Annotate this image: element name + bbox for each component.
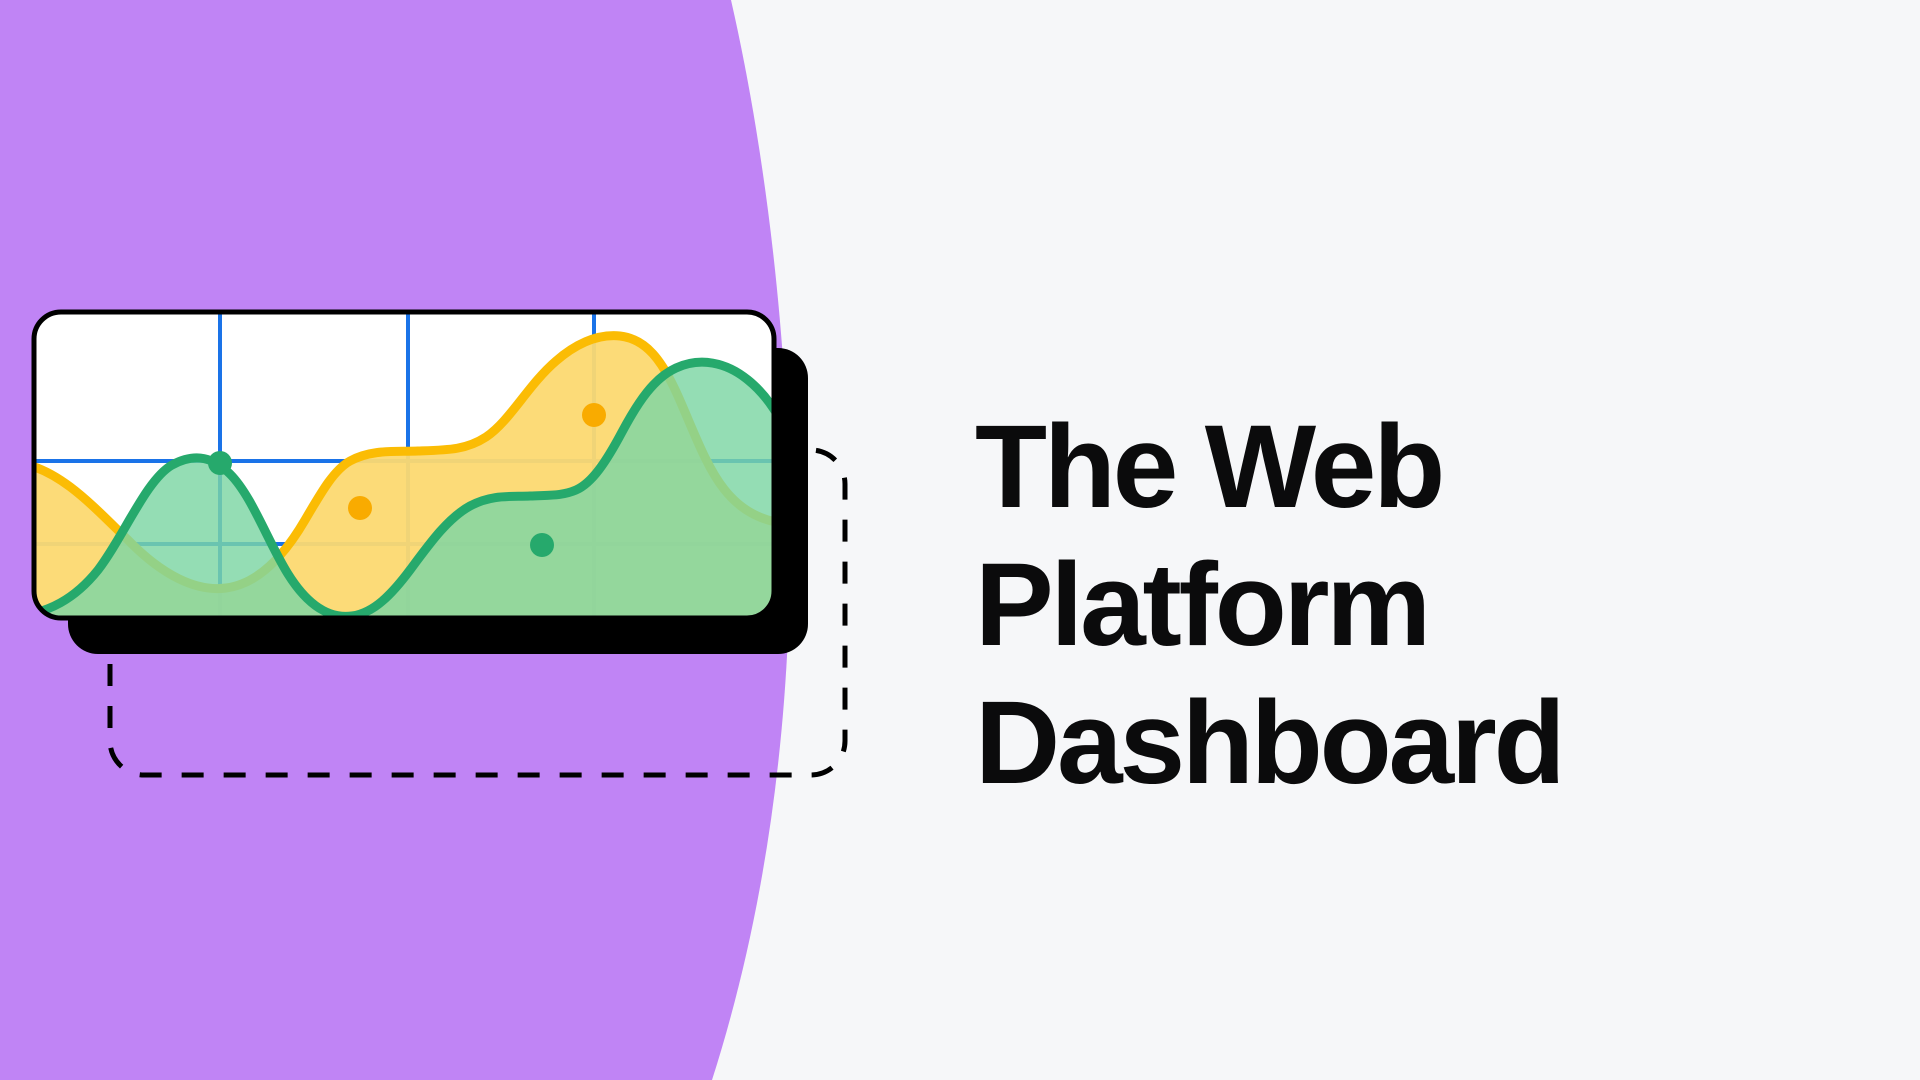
data-point-green-1[interactable] bbox=[208, 451, 232, 475]
data-point-green-2[interactable] bbox=[530, 533, 554, 557]
hero-stage: The Web Platform Dashboard bbox=[0, 0, 1920, 1080]
page-title-line-3: Dashboard bbox=[975, 674, 1795, 812]
page-title-line-1: The Web bbox=[975, 398, 1795, 536]
data-point-yellow-1[interactable] bbox=[348, 496, 372, 520]
page-title: The Web Platform Dashboard bbox=[975, 398, 1795, 812]
page-title-line-2: Platform bbox=[975, 536, 1795, 674]
data-point-yellow-2[interactable] bbox=[582, 403, 606, 427]
